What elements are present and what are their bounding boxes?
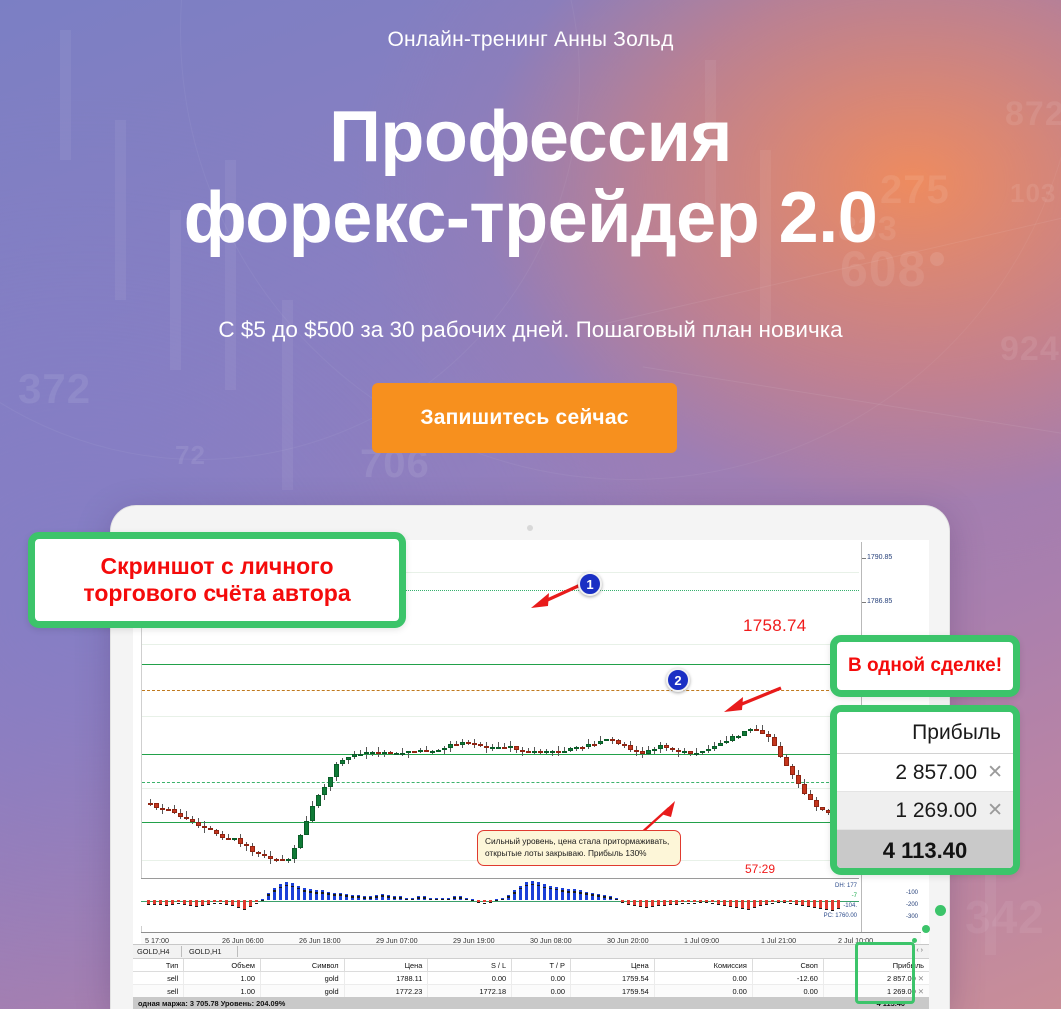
indicator-signal-line <box>345 895 348 896</box>
indicator-signal-line <box>525 885 528 886</box>
profit-value: 1 269.00 <box>895 799 977 823</box>
column-header-6[interactable]: Цена <box>570 959 654 972</box>
indicator-signal-line <box>783 902 786 903</box>
candlestick <box>508 542 513 932</box>
candlestick <box>436 542 441 932</box>
candlestick <box>778 542 783 932</box>
candlestick <box>658 542 663 932</box>
column-header-5[interactable]: T / P <box>512 959 571 972</box>
chart-marker-1[interactable]: 1 <box>578 572 602 596</box>
candlestick <box>736 542 741 932</box>
indicator-signal-line <box>621 902 624 903</box>
indicator-signal-line <box>471 900 474 901</box>
indicator-signal-line <box>321 892 324 893</box>
candlestick <box>448 542 453 932</box>
candlestick <box>790 542 795 932</box>
cell-swap: 0.00 <box>752 985 823 998</box>
candlestick <box>712 542 717 932</box>
column-header-0[interactable]: Тип <box>133 959 184 972</box>
cell-commission: 0.00 <box>654 972 752 985</box>
indicator-signal-line <box>363 897 366 898</box>
indicator-signal-line <box>663 905 666 906</box>
indicator-signal-line <box>801 905 804 906</box>
indicator-signal-line <box>207 904 210 905</box>
cell-commission: 0.00 <box>654 985 752 998</box>
indicator-signal-line <box>567 891 570 892</box>
candlestick <box>514 542 519 932</box>
bar-countdown-timer: 57:29 <box>745 862 775 876</box>
indicator-signal-line <box>333 894 336 895</box>
decor-dot <box>912 938 917 943</box>
indicator-signal-line <box>309 891 312 892</box>
candlestick <box>646 542 651 932</box>
indicator-signal-line <box>303 890 306 891</box>
candlestick <box>406 542 411 932</box>
page-title-line-2: форекс-трейдер 2.0 <box>0 178 1061 259</box>
indicator-signal-line <box>381 895 384 896</box>
candlestick <box>466 542 471 932</box>
indicator-signal-line <box>627 904 630 905</box>
candlestick <box>472 542 477 932</box>
hero-eyebrow: Онлайн-тренинг Анны Зольд <box>0 28 1061 52</box>
indicator-signal-line <box>585 893 588 894</box>
indicator-signal-line <box>195 906 198 907</box>
indicator-scale-axis: -100 -200 -300 <box>861 878 921 926</box>
candlestick <box>652 542 657 932</box>
cell-sl: 0.00 <box>428 972 512 985</box>
indicator-signal-line <box>273 890 276 891</box>
close-icon[interactable]: ✕ <box>987 799 1003 822</box>
indicator-signal-line <box>465 899 468 900</box>
candlestick <box>622 542 627 932</box>
indicator-signal-line <box>429 899 432 900</box>
profit-column-highlight <box>855 942 915 1004</box>
close-icon[interactable]: ✕ <box>918 974 924 983</box>
candlestick <box>706 542 711 932</box>
indicator-signal-line <box>339 894 342 895</box>
candlestick <box>478 542 483 932</box>
candlestick <box>784 542 789 932</box>
cell-sl: 1772.18 <box>428 985 512 998</box>
table-header-row: ТипОбъемСимволЦенаS / LT / PЦенаКомиссия… <box>133 959 929 972</box>
indicator-signal-line <box>615 899 618 900</box>
indicator-signal-line <box>375 896 378 897</box>
column-header-1[interactable]: Объем <box>184 959 261 972</box>
candlestick <box>424 542 429 932</box>
cell-type: sell <box>133 972 184 985</box>
indicator-signal-line <box>645 907 648 908</box>
indicator-signal-line <box>291 886 294 887</box>
page-title-line-1: Профессия <box>0 97 1061 178</box>
indicator-label: -104. <box>843 903 857 909</box>
indicator-signal-line <box>201 905 204 906</box>
indicator-signal-line <box>171 904 174 905</box>
candlestick <box>682 542 687 932</box>
candlestick <box>502 542 507 932</box>
page-title: Профессия форекс-трейдер 2.0 <box>0 97 1061 260</box>
profit-panel-header: Прибыль <box>837 712 1013 754</box>
camera-icon <box>527 525 533 531</box>
indicator-signal-line <box>147 904 150 905</box>
candlestick <box>604 542 609 932</box>
indicator-signal-line <box>399 897 402 898</box>
indicator-signal-line <box>819 908 822 909</box>
candlestick <box>496 542 501 932</box>
indicator-signal-line <box>423 897 426 898</box>
indicator-signal-line <box>609 897 612 898</box>
indicator-signal-line <box>729 906 732 907</box>
candlestick <box>664 542 669 932</box>
indicator-scale-tick: -300 <box>906 914 918 920</box>
chart-marker-2[interactable]: 2 <box>666 668 690 692</box>
indicator-signal-line <box>507 896 510 897</box>
indicator-signal-line <box>183 904 186 905</box>
candlestick <box>670 542 675 932</box>
indicator-signal-line <box>177 903 180 904</box>
indicator-signal-line <box>159 904 162 905</box>
indicator-signal-line <box>225 904 228 905</box>
indicator-signal-line <box>327 893 330 894</box>
indicator-signal-line <box>825 909 828 910</box>
indicator-signal-line <box>417 897 420 898</box>
signup-button[interactable]: Запишитесь сейчас <box>372 383 677 453</box>
indicator-signal-line <box>357 896 360 897</box>
candlestick <box>802 542 807 932</box>
candlestick <box>598 542 603 932</box>
indicator-signal-line <box>777 902 780 903</box>
indicator-signal-line <box>387 896 390 897</box>
cell-tp: 0.00 <box>512 985 571 998</box>
watermark-number: 342 <box>965 890 1045 944</box>
indicator-signal-line <box>297 888 300 889</box>
indicator-signal-line <box>705 902 708 903</box>
indicator-signal-line <box>639 906 642 907</box>
indicator-signal-line <box>393 897 396 898</box>
indicator-signal-line <box>501 899 504 900</box>
indicator-signal-line <box>579 892 582 893</box>
candlestick <box>718 542 723 932</box>
indicator-signal-line <box>405 899 408 900</box>
indicator-signal-line <box>561 890 564 891</box>
indicator-signal-line <box>213 903 216 904</box>
indicator-signal-line <box>699 902 702 903</box>
table-row[interactable]: sell1.00gold1788.110.000.001759.540.00-1… <box>133 972 929 985</box>
indicator-signal-line <box>807 906 810 907</box>
indicator-scale-tick: -100 <box>906 890 918 896</box>
candlestick <box>442 542 447 932</box>
candlestick <box>700 542 705 932</box>
indicator-signal-line <box>435 899 438 900</box>
candlestick <box>730 542 735 932</box>
indicator-signal-line <box>549 888 552 889</box>
cell-price_open: 1788.11 <box>344 972 428 985</box>
indicator-label: -7 <box>852 893 857 899</box>
indicator-signal-line <box>771 903 774 904</box>
indicator-signal-line <box>675 904 678 905</box>
price-tick: 1786.85 <box>867 598 892 605</box>
candlestick <box>430 542 435 932</box>
indicator-signal-line <box>495 900 498 901</box>
indicator-signal-line <box>189 905 192 906</box>
indicator-label: DH: 177 <box>835 883 857 889</box>
candlestick <box>490 542 495 932</box>
indicator-signal-line <box>279 887 282 888</box>
tab-scroll-arrows[interactable]: ‹ › <box>916 947 923 954</box>
cell-price_cur: 1759.54 <box>570 972 654 985</box>
candlestick <box>640 542 645 932</box>
indicator-signal-line <box>837 908 840 909</box>
cell-swap: -12.60 <box>752 972 823 985</box>
column-header-4[interactable]: S / L <box>428 959 512 972</box>
callout-line-2: торгового счёта автора <box>83 580 350 607</box>
profit-row: 2 857.00 ✕ <box>837 754 1013 792</box>
candlestick <box>676 542 681 932</box>
indicator-signal-line <box>681 903 684 904</box>
indicator-signal-line <box>573 891 576 892</box>
indicator-signal-line <box>267 894 270 895</box>
indicator-signal-line <box>531 884 534 885</box>
candlestick <box>616 542 621 932</box>
indicator-signal-line <box>237 907 240 908</box>
indicator-signal-line <box>753 907 756 908</box>
callout-line-1: Скриншот с личного <box>83 553 350 580</box>
callout-one-deal: В одной сделке! <box>830 635 1020 697</box>
indicator-signal-line <box>489 902 492 903</box>
indicator-signal-line <box>453 897 456 898</box>
indicator-signal-line <box>765 904 768 905</box>
indicator-signal-line <box>717 904 720 905</box>
cell-volume: 1.00 <box>184 972 261 985</box>
indicator-signal-line <box>789 903 792 904</box>
candlestick <box>610 542 615 932</box>
cell-symbol: gold <box>260 985 344 998</box>
indicator-signal-line <box>459 897 462 898</box>
close-icon[interactable]: ✕ <box>987 761 1003 784</box>
indicator-signal-line <box>633 905 636 906</box>
open-trades-table: ТипОбъемСимволЦенаS / LT / PЦенаКомиссия… <box>133 959 929 998</box>
chart-annotation-tooltip: Сильный уровень, цена стала притормажива… <box>477 830 681 866</box>
candlestick <box>418 542 423 932</box>
callout-screenshot-note: Скриншот с личного торгового счёта автор… <box>28 532 406 628</box>
indicator-signal-line <box>747 909 750 910</box>
indicator-signal-line <box>723 905 726 906</box>
cell-price_open: 1772.23 <box>344 985 428 998</box>
profit-value: 2 857.00 <box>895 761 977 785</box>
candlestick <box>454 542 459 932</box>
indicator-label: PC: 1760.00 <box>824 913 857 919</box>
indicator-signal-line <box>831 910 834 911</box>
indicator-signal-line <box>693 903 696 904</box>
table-row[interactable]: sell1.00gold1772.231772.180.001759.540.0… <box>133 985 929 998</box>
indicator-signal-line <box>657 905 660 906</box>
indicator-signal-line <box>285 885 288 886</box>
candlestick <box>694 542 699 932</box>
indicator-signal-line <box>411 899 414 900</box>
profit-row: 1 269.00 ✕ <box>837 792 1013 830</box>
cell-tp: 0.00 <box>512 972 571 985</box>
hero-subtitle: С $5 до $500 за 30 рабочих дней. Пошагов… <box>0 317 1061 343</box>
indicator-signal-line <box>597 895 600 896</box>
cell-volume: 1.00 <box>184 985 261 998</box>
indicator-signal-line <box>219 903 222 904</box>
decor-dot <box>922 925 930 933</box>
candlestick <box>628 542 633 932</box>
cell-price_cur: 1759.54 <box>570 985 654 998</box>
indicator-signal-line <box>687 903 690 904</box>
indicator-signal-line <box>759 905 762 906</box>
column-header-3[interactable]: Цена <box>344 959 428 972</box>
tab-gold-h1[interactable]: GOLD,H1 <box>189 947 221 956</box>
indicator-signal-line <box>351 896 354 897</box>
candlestick <box>634 542 639 932</box>
price-tick: 1790.85 <box>867 554 892 561</box>
indicator-signal-line <box>255 903 258 904</box>
indicator-signal-line <box>741 908 744 909</box>
margin-summary: одная маржа: 3 705.78 Уровень: 204.09% <box>138 999 285 1008</box>
indicator-signal-line <box>537 885 540 886</box>
indicator-signal-line <box>441 899 444 900</box>
decor-dot <box>935 905 946 916</box>
indicator-signal-line <box>735 907 738 908</box>
indicator-signal-line <box>651 906 654 907</box>
candlestick <box>412 542 417 932</box>
profit-summary-panel: Прибыль 2 857.00 ✕ 1 269.00 ✕ 4 113.40 <box>830 705 1020 875</box>
indicator-signal-line <box>369 897 372 898</box>
indicator-signal-line <box>483 903 486 904</box>
indicator-signal-line <box>543 887 546 888</box>
indicator-signal-line <box>519 888 522 889</box>
indicator-signal-line <box>165 905 168 906</box>
column-header-7[interactable]: Комиссия <box>654 959 752 972</box>
indicator-signal-line <box>249 906 252 907</box>
candlestick <box>820 542 825 932</box>
current-price-label: 1758.74 <box>743 616 807 636</box>
indicator-signal-line <box>669 904 672 905</box>
indicator-signal-line <box>513 892 516 893</box>
cell-symbol: gold <box>260 972 344 985</box>
column-header-8[interactable]: Своп <box>752 959 823 972</box>
candlestick <box>592 542 597 932</box>
indicator-signal-line <box>711 903 714 904</box>
indicator-signal-line <box>261 900 264 901</box>
indicator-signal-line <box>447 899 450 900</box>
indicator-signal-line <box>813 907 816 908</box>
indicator-signal-line <box>477 902 480 903</box>
candlestick <box>688 542 693 932</box>
indicator-signal-line <box>153 904 156 905</box>
indicator-signal-line <box>591 894 594 895</box>
close-icon[interactable]: ✕ <box>918 987 924 996</box>
hero-section: Онлайн-тренинг Анны Зольд Профессия форе… <box>0 0 1061 500</box>
indicator-signal-line <box>795 904 798 905</box>
column-header-2[interactable]: Символ <box>260 959 344 972</box>
account-summary-row: одная маржа: 3 705.78 Уровень: 204.09% 4… <box>133 997 929 1009</box>
indicator-signal-line <box>555 889 558 890</box>
candlestick <box>808 542 813 932</box>
candlestick <box>460 542 465 932</box>
indicator-signal-line <box>231 905 234 906</box>
candlestick <box>724 542 729 932</box>
candlestick <box>796 542 801 932</box>
cell-type: sell <box>133 985 184 998</box>
candlestick <box>814 542 819 932</box>
tab-gold-h4[interactable]: GOLD,H4 <box>137 947 169 956</box>
indicator-signal-line <box>603 896 606 897</box>
symbol-tab-bar[interactable]: GOLD,H4 GOLD,H1 ‹ › <box>133 945 929 959</box>
indicator-signal-line <box>243 909 246 910</box>
arrow-to-marker-2 <box>717 680 787 720</box>
indicator-scale-tick: -200 <box>906 902 918 908</box>
candlestick <box>484 542 489 932</box>
profit-total: 4 113.40 <box>837 830 1013 872</box>
indicator-signal-line <box>315 892 318 893</box>
terminal-panel: GOLD,H4 GOLD,H1 ‹ › ТипОбъемСимволЦенаS … <box>133 944 929 1009</box>
indicator-subwindow[interactable]: DH: 177 -7 -104. PC: 1760.00 <box>141 878 859 926</box>
